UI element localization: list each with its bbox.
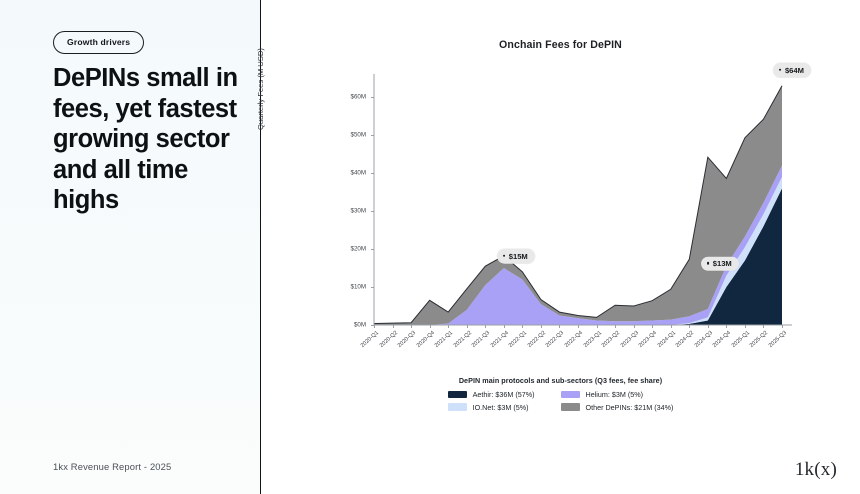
x-tick-mark xyxy=(467,325,468,328)
x-tick-mark xyxy=(578,325,579,328)
legend-title: DePIN main protocols and sub-sectors (Q3… xyxy=(459,376,662,385)
chart-legend: DePIN main protocols and sub-sectors (Q3… xyxy=(261,376,860,412)
legend-label: Aethir: $36M (57%) xyxy=(473,390,535,399)
legend-item-io-net[interactable]: IO.Net: $3M (5%) xyxy=(448,403,535,412)
legend-label: Helium: $3M (5%) xyxy=(586,390,644,399)
x-tick-mark xyxy=(541,325,542,328)
x-tick-mark xyxy=(708,325,709,328)
x-tick-mark xyxy=(763,325,764,328)
legend-swatch xyxy=(561,391,580,399)
legend-item-other-depins[interactable]: Other DePINs: $21M (34%) xyxy=(561,403,674,412)
x-tick-mark xyxy=(448,325,449,328)
annotation-label: $13M xyxy=(713,259,732,268)
brand-logo: 1k(x) xyxy=(795,459,837,481)
legend-items: Aethir: $36M (57%)Helium: $3M (5%)IO.Net… xyxy=(448,390,674,412)
footer-credit: 1kx Revenue Report - 2025 xyxy=(53,461,171,472)
legend-item-aethir[interactable]: Aethir: $36M (57%) xyxy=(448,390,535,399)
legend-label: Other DePINs: $21M (34%) xyxy=(586,403,674,412)
x-tick-mark xyxy=(504,325,505,328)
x-tick-mark xyxy=(430,325,431,328)
x-tick-mark xyxy=(522,325,523,328)
x-tick-mark xyxy=(745,325,746,328)
legend-swatch xyxy=(448,391,467,399)
eyebrow-badge: Growth drivers xyxy=(53,31,144,54)
x-tick-mark xyxy=(782,325,783,328)
legend-item-helium[interactable]: Helium: $3M (5%) xyxy=(561,390,674,399)
left-panel: Growth drivers DePINs small in fees, yet… xyxy=(0,0,261,494)
x-tick-mark xyxy=(485,325,486,328)
annotation-label: $15M xyxy=(509,251,528,260)
chart-plot-area: Quarterly Fees (M USD) $0M$10M$20M$30M$4… xyxy=(261,0,860,494)
page-title: DePINs small in fees, yet fastest growin… xyxy=(53,63,249,216)
x-tick-mark xyxy=(597,325,598,328)
right-panel: Onchain Fees for DePIN Quarterly Fees (M… xyxy=(261,0,860,494)
slide-root: Growth drivers DePINs small in fees, yet… xyxy=(0,0,860,494)
annotation-dot-icon xyxy=(779,69,781,71)
legend-swatch xyxy=(561,403,580,411)
x-tick-mark xyxy=(726,325,727,328)
annotation-callout: $13M xyxy=(701,256,739,271)
annotation-callout: $15M xyxy=(497,249,535,264)
annotation-label: $64M xyxy=(785,65,804,74)
x-tick-mark xyxy=(652,325,653,328)
x-tick-mark xyxy=(374,325,375,328)
x-tick-mark xyxy=(393,325,394,328)
x-tick-mark xyxy=(411,325,412,328)
annotation-callout: $64M xyxy=(773,63,811,78)
annotation-dot-icon xyxy=(707,262,709,264)
annotation-dot-icon xyxy=(503,255,505,257)
x-tick-mark xyxy=(559,325,560,328)
legend-swatch xyxy=(448,403,467,411)
x-tick-mark xyxy=(634,325,635,328)
x-tick-mark xyxy=(615,325,616,328)
x-tick-mark xyxy=(689,325,690,328)
legend-label: IO.Net: $3M (5%) xyxy=(473,403,529,412)
stacked-area-series xyxy=(261,0,860,494)
x-tick-mark xyxy=(671,325,672,328)
